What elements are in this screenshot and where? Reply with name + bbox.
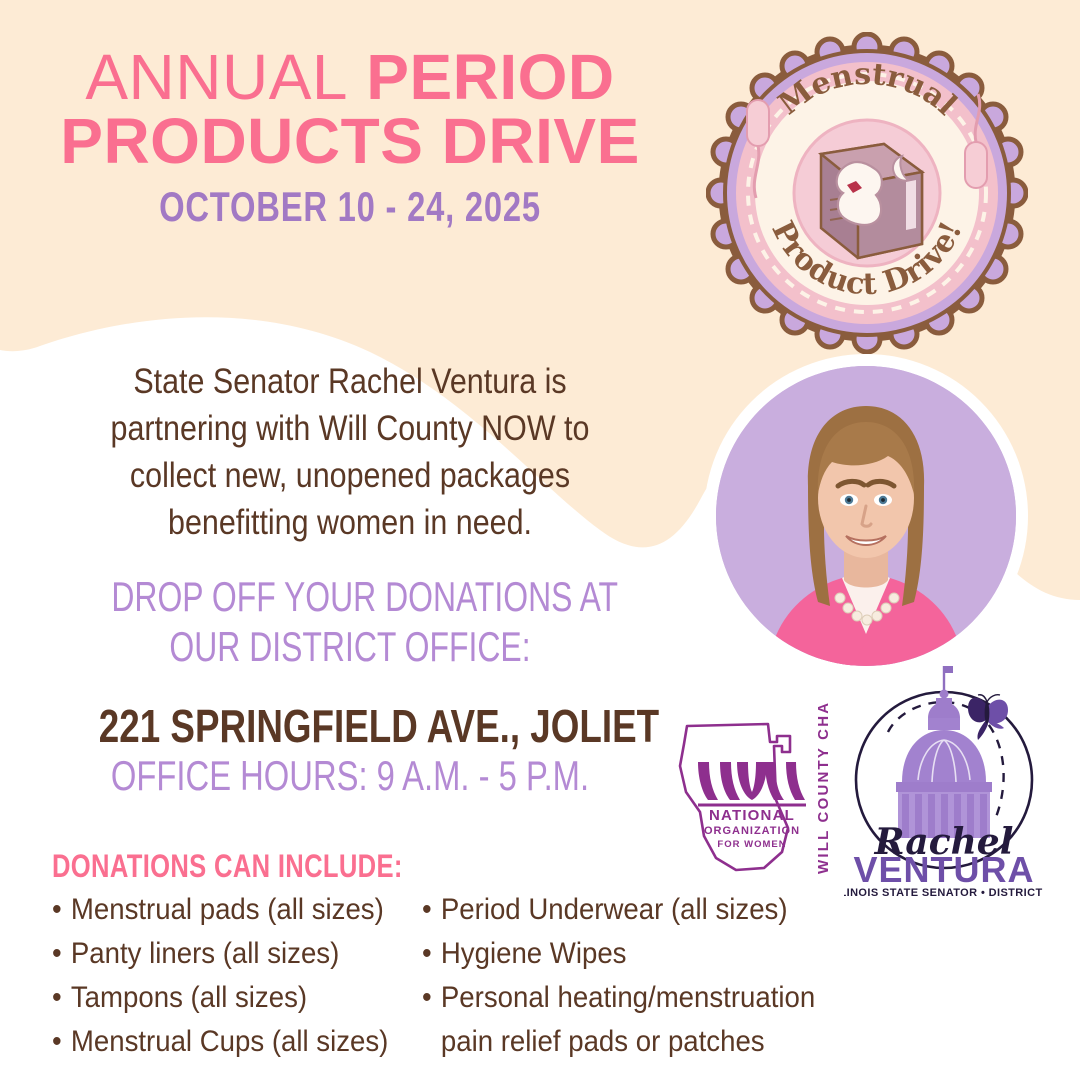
donations-right-column: • Period Underwear (all sizes) • Hygiene… xyxy=(422,888,902,1064)
list-item: • Menstrual pads (all sizes) xyxy=(52,888,392,932)
page-title-line1: ANNUAL PERIOD xyxy=(0,46,700,108)
list-item-label: Hygiene Wipes xyxy=(441,932,627,976)
dropoff-heading: DROP OFF YOUR DONATIONS AT OUR DISTRICT … xyxy=(111,572,588,672)
logo-surname: VENTURA xyxy=(853,849,1034,890)
butterfly-icon xyxy=(968,695,1008,740)
office-hours: OFFICE HOURS: 9 A.M. - 5 P.M. xyxy=(105,752,595,800)
bullet-icon: • xyxy=(52,932,62,976)
will-county-now-logo: NATIONAL ORGANIZATION FOR WOMEN WILL COU… xyxy=(664,700,840,880)
title-period: PERIOD xyxy=(366,41,614,113)
list-item-label: Period Underwear (all sizes) xyxy=(441,888,788,932)
list-item-label: Panty liners (all sizes) xyxy=(71,932,339,976)
event-date: OCTOBER 10 - 24, 2025 xyxy=(77,184,623,230)
page-title-line2: PRODUCTS DRIVE xyxy=(0,108,700,174)
list-item: • Period Underwear (all sizes) xyxy=(422,888,864,932)
now-line3: FOR WOMEN xyxy=(717,839,786,850)
bullet-icon: • xyxy=(422,932,432,976)
capitol-dome-icon xyxy=(896,666,992,838)
title-annual: ANNUAL xyxy=(85,41,348,113)
list-item: • Menstrual Cups (all sizes) xyxy=(52,1020,392,1064)
flyer-canvas: ANNUAL PERIOD PRODUCTS DRIVE OCTOBER 10 … xyxy=(0,0,1080,1080)
list-item-label: Menstrual Cups (all sizes) xyxy=(71,1020,389,1064)
list-item-label: Tampons (all sizes) xyxy=(71,976,307,1020)
list-item: • Hygiene Wipes xyxy=(422,932,864,976)
donations-heading: DONATIONS CAN INCLUDE: xyxy=(52,848,403,885)
now-line1: NATIONAL xyxy=(709,807,795,824)
menstrual-product-drive-badge-icon: Menstrual Product Drive! xyxy=(706,32,1028,354)
office-address: 221 SPRINGFIELD AVE., JOLIET xyxy=(99,700,601,752)
pad-box-illustration xyxy=(821,144,922,258)
now-chapter-text: WILL COUNTY CHAPTER xyxy=(815,700,832,874)
list-item: • Panty liners (all sizes) xyxy=(52,932,392,976)
dropoff-line-2: OUR DISTRICT OFFICE: xyxy=(111,622,588,672)
header-block: ANNUAL PERIOD PRODUCTS DRIVE OCTOBER 10 … xyxy=(0,46,700,230)
portrait-illustration xyxy=(716,366,1016,666)
now-acronym-icon xyxy=(698,762,805,800)
donations-left-column: • Menstrual pads (all sizes) • Panty lin… xyxy=(52,888,422,1064)
list-item-label-line1: Personal heating/menstruation xyxy=(441,976,815,1020)
now-line2: ORGANIZATION xyxy=(704,825,800,837)
list-item-label: Menstrual pads (all sizes) xyxy=(71,888,384,932)
bullet-icon: • xyxy=(422,888,432,932)
bullet-icon: • xyxy=(52,1020,62,1064)
rachel-ventura-logo: Rachel VENTURA ILLINOIS STATE SENATOR • … xyxy=(844,654,1044,902)
portrait-container xyxy=(716,366,1016,666)
list-item: • Personal heating/menstruation pain rel… xyxy=(422,976,864,1064)
list-item-label-line2: pain relief pads or patches xyxy=(441,1020,815,1064)
description-paragraph: State Senator Rachel Ventura is partneri… xyxy=(77,358,623,546)
list-item-label-multiline: Personal heating/menstruation pain relie… xyxy=(441,976,815,1064)
avatar xyxy=(716,366,1016,666)
bullet-icon: • xyxy=(52,976,62,1020)
bullet-icon: • xyxy=(52,888,62,932)
logo-tagline: ILLINOIS STATE SENATOR • DISTRICT 43 xyxy=(844,887,1044,899)
dropoff-line-1: DROP OFF YOUR DONATIONS AT xyxy=(111,572,588,622)
list-item: • Tampons (all sizes) xyxy=(52,976,392,1020)
bullet-icon: • xyxy=(422,976,432,1020)
donations-columns: • Menstrual pads (all sizes) • Panty lin… xyxy=(52,888,992,1064)
